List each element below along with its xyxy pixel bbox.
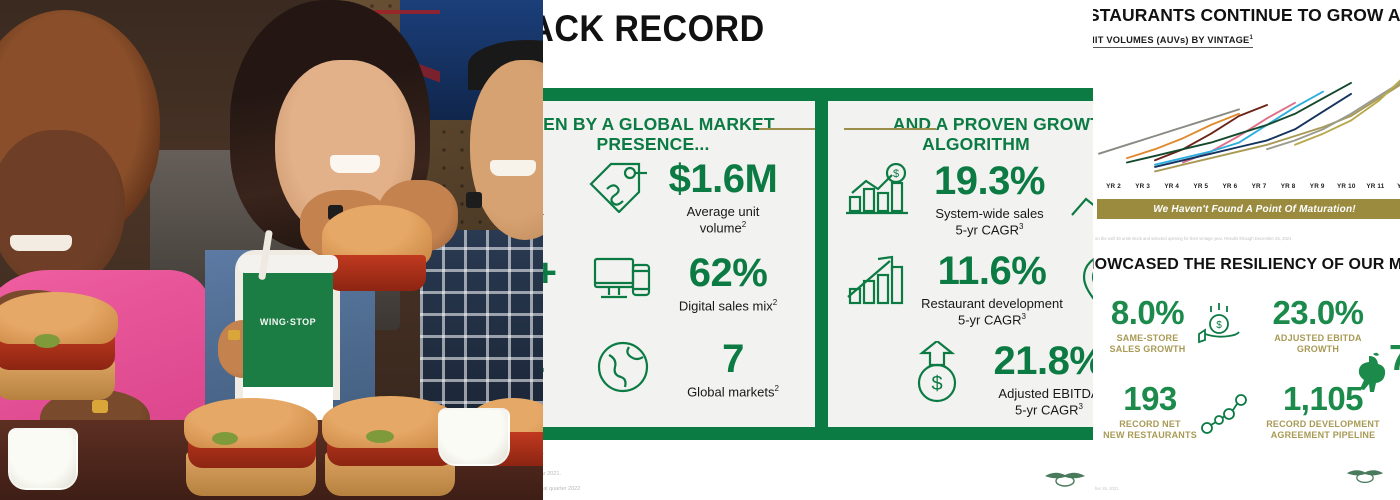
auv-by-vintage-chart-svg — [1093, 70, 1400, 182]
stat-unique-digital-guests-value: 3M+ — [543, 253, 556, 293]
stat-record-development-pipeline-label: RECORD DEVELOPMENTAGREEMENT PIPELINE — [1243, 419, 1400, 442]
x-axis-tick: YR 7 — [1244, 183, 1273, 190]
sandwich-1-bun — [0, 292, 118, 344]
wingstop-cup-logo: WING·STOP — [252, 300, 324, 344]
bar-chart-dollar-icon: $ — [844, 163, 910, 226]
footnote-3: year 2021. — [543, 469, 580, 479]
right-column-heading-line1: AND A PROVEN GROWTH — [838, 115, 1093, 135]
stat-average-unit-volume-value: $1.6M — [669, 159, 778, 199]
globe-icon — [595, 339, 651, 400]
maturation-banner: We Haven't Found A Point Of Maturation! — [1097, 199, 1400, 219]
lifestyle-photo: WING·STOP — [0, 0, 543, 500]
stat-global-markets-value: 7 — [722, 339, 744, 379]
stat-digital-sales-mix-value: 62% — [689, 253, 768, 293]
resiliency-title: HOWCASED THE RESILIENCY OF OUR MODEL — [1093, 256, 1400, 274]
stat-record-net-new-restaurants-label: RECORD NETNEW RESTAURANTS — [1093, 419, 1215, 442]
person-center-smile — [330, 155, 380, 173]
middle-footnotes: 021 22. year 2021. fiscal quarter 2022 — [543, 448, 580, 495]
stat-unique-digital-guests-text: 3M+ ue digital uests2 — [543, 253, 556, 330]
stat-restaurants: 791 taurants2 — [543, 339, 544, 400]
ranch-dip-cup-1 — [8, 428, 78, 490]
stat-record-net-new-restaurants: 193 RECORD NETNEW RESTAURANTS — [1093, 382, 1215, 442]
stat-record-development-pipeline-value: 1,105 — [1243, 382, 1400, 415]
footnote-4: fiscal quarter 2022 — [543, 484, 580, 494]
trend-arrow-icon — [1070, 179, 1093, 228]
stat-adjusted-ebitda-growth-value: 23.0% — [1243, 296, 1393, 329]
page-title: TRACK RECORD — [543, 8, 765, 50]
ring-gold — [92, 400, 108, 413]
x-axis-tick: YR 10 — [1332, 183, 1361, 190]
x-axis-tick: YR 4 — [1157, 183, 1186, 190]
stat-record-development-pipeline: 1,105 RECORD DEVELOPMENTAGREEMENT PIPELI… — [1243, 382, 1400, 442]
x-axis-tick: YR 5 — [1186, 183, 1215, 190]
x-axis-tick: YR 11 — [1361, 183, 1390, 190]
chart-x-axis: YR 2YR 3YR 4YR 5YR 6YR 7YR 8YR 9YR 10YR … — [1099, 178, 1400, 194]
bar-chart-arrow-icon — [844, 253, 910, 316]
right-page-subtitle: NIT VOLUMES (AUVs) BY VINTAGE1 — [1093, 35, 1253, 48]
stat-same-store-sales-growth-label: SAME-STORESALES GROWTH — [1093, 333, 1210, 356]
stat-systemwide-sales: .3B wide sales1 — [543, 163, 544, 224]
left-column-heading: VEN BY A GLOBAL MARKET PRESENCE... — [543, 115, 803, 154]
slide-strip: WING·STOP TRACK RECORD VEN BY A GLOBAL M… — [0, 0, 1400, 500]
sandwich-1-pickle — [34, 334, 60, 348]
column-divider — [815, 88, 828, 440]
x-axis-tick: YR 2 — [1099, 183, 1128, 190]
stat-systemwide-sales-cagr: 19.3% System-wide sales 5-yr CAGR3 — [912, 161, 1067, 238]
money-bag-arrow-icon: $ — [906, 341, 968, 410]
stat-restaurants-value: 791 — [543, 339, 544, 379]
footnote-2: 22. — [543, 458, 580, 468]
stat-unique-digital-guests-label: ue digital uests2 — [543, 298, 556, 330]
stat-restaurant-development-cagr-label: Restaurant development 5-yr CAGR3 — [921, 296, 1063, 328]
stat-unique-digital-guests: 3M+ ue digital uests2 — [543, 253, 556, 330]
right-footnote-1: on the well 30 units stock and selected … — [1095, 236, 1291, 241]
stat-systemwide-sales-value: .3B — [543, 163, 544, 203]
stat-digital-sales-mix-label: Digital sales mix2 — [679, 298, 777, 314]
stat-global-markets-label: Global markets2 — [687, 384, 779, 400]
stat-same-store-sales-growth-value: 8.0% — [1093, 296, 1210, 329]
auv-growth-slide: STAURANTS CONTINUE TO GROW ACROSS ALL VI… — [1093, 0, 1400, 500]
stat-adjusted-ebitda-cagr-label: Adjusted EBITDA 5-yr CAGR3 — [998, 386, 1093, 418]
ranch-dip-cup-2 — [438, 408, 510, 466]
ring-square-black-2 — [466, 192, 482, 208]
stat-adjusted-ebitda-growth: 23.0% ADJUSTED EBITDAGROWTH — [1243, 296, 1393, 356]
sandwich-2-bun — [184, 398, 318, 448]
right-page-title: STAURANTS CONTINUE TO GROW ACROSS ALL VI… — [1093, 5, 1400, 26]
stat-adjusted-ebitda-cagr-value: 21.8% — [994, 341, 1093, 381]
person-right-smile — [490, 160, 536, 176]
stat-adjusted-ebitda-cagr: 21.8% Adjusted EBITDA 5-yr CAGR3 — [974, 341, 1093, 418]
left-column-heading-line1: VEN BY A GLOBAL MARKET — [543, 115, 803, 135]
stat-same-store-sales-growth: 8.0% SAME-STORESALES GROWTH — [1093, 296, 1210, 356]
held-sandwich-filling — [326, 255, 426, 291]
stat-average-unit-volume-label: Average unit volume2 — [687, 204, 760, 236]
right-column-rule — [844, 128, 936, 130]
stat-systemwide-sales-cagr-value: 19.3% — [934, 161, 1045, 201]
stat-global-markets: 7 Global markets2 — [663, 339, 803, 400]
location-pin-utensils-icon — [1078, 253, 1093, 322]
price-tag-icon — [587, 159, 651, 218]
ring-gold-2 — [228, 330, 240, 340]
left-column-heading-line2: PRESENCE... — [543, 135, 803, 155]
sandwich-3-pickle — [366, 430, 394, 443]
stat-systemwide-sales-cagr-label: System-wide sales 5-yr CAGR3 — [935, 206, 1043, 238]
wingstop-logo-middle — [1043, 468, 1087, 495]
x-axis-tick: YR 8 — [1274, 183, 1303, 190]
sandwich-2-pickle — [212, 432, 238, 445]
right-column-heading-line2: ALGORITHM — [838, 135, 1093, 155]
stat-record-net-new-restaurants-value: 193 — [1093, 382, 1215, 415]
wingstop-logo-right — [1345, 466, 1385, 491]
devices-icon — [591, 253, 653, 310]
stat-restaurants-text: 791 taurants2 — [543, 339, 544, 400]
stat-restaurants-label: taurants2 — [543, 384, 544, 400]
svg-text:$: $ — [893, 168, 899, 180]
svg-text:$: $ — [931, 373, 942, 395]
stat-systemwide-sales-label: wide sales1 — [543, 208, 544, 224]
footnote-1: 021 — [543, 448, 580, 458]
hand-coin-icon: $ — [1197, 300, 1243, 353]
stat-restaurant-development-cagr-value: 11.6% — [938, 251, 1047, 291]
stat-restaurant-development-cagr: 11.6% Restaurant development 5-yr CAGR3 — [902, 251, 1082, 328]
stat-systemwide-sales-text: .3B wide sales1 — [543, 163, 544, 224]
left-column-rule — [759, 128, 815, 130]
x-axis-tick: YR 3 — [1128, 183, 1157, 190]
x-axis-tick: YR 9 — [1303, 183, 1332, 190]
global-market-presence-column: VEN BY A GLOBAL MARKET PRESENCE... .3B w… — [543, 101, 815, 427]
auv-by-vintage-chart — [1093, 70, 1400, 182]
growth-algorithm-column: AND A PROVEN GROWTH ALGORITHM $ 19.3 — [828, 101, 1093, 427]
svg-text:$: $ — [1216, 320, 1222, 331]
right-footnote-2: ber 25, 2021 — [1095, 486, 1119, 491]
stat-digital-sales-mix: 62% Digital sales mix2 — [663, 253, 793, 314]
drink-cup-lid — [238, 255, 338, 273]
person-left-smile — [10, 235, 72, 251]
track-record-slide: TRACK RECORD VEN BY A GLOBAL MARKET PRES… — [543, 0, 1093, 500]
x-axis-tick: YR 1 — [1390, 183, 1400, 190]
stat-bone-in-inflation-value: 72 — [1389, 340, 1400, 376]
x-axis-tick: YR 6 — [1215, 183, 1244, 190]
right-column-heading: AND A PROVEN GROWTH ALGORITHM — [838, 115, 1093, 154]
stat-average-unit-volume: $1.6M Average unit volume2 — [663, 159, 783, 236]
